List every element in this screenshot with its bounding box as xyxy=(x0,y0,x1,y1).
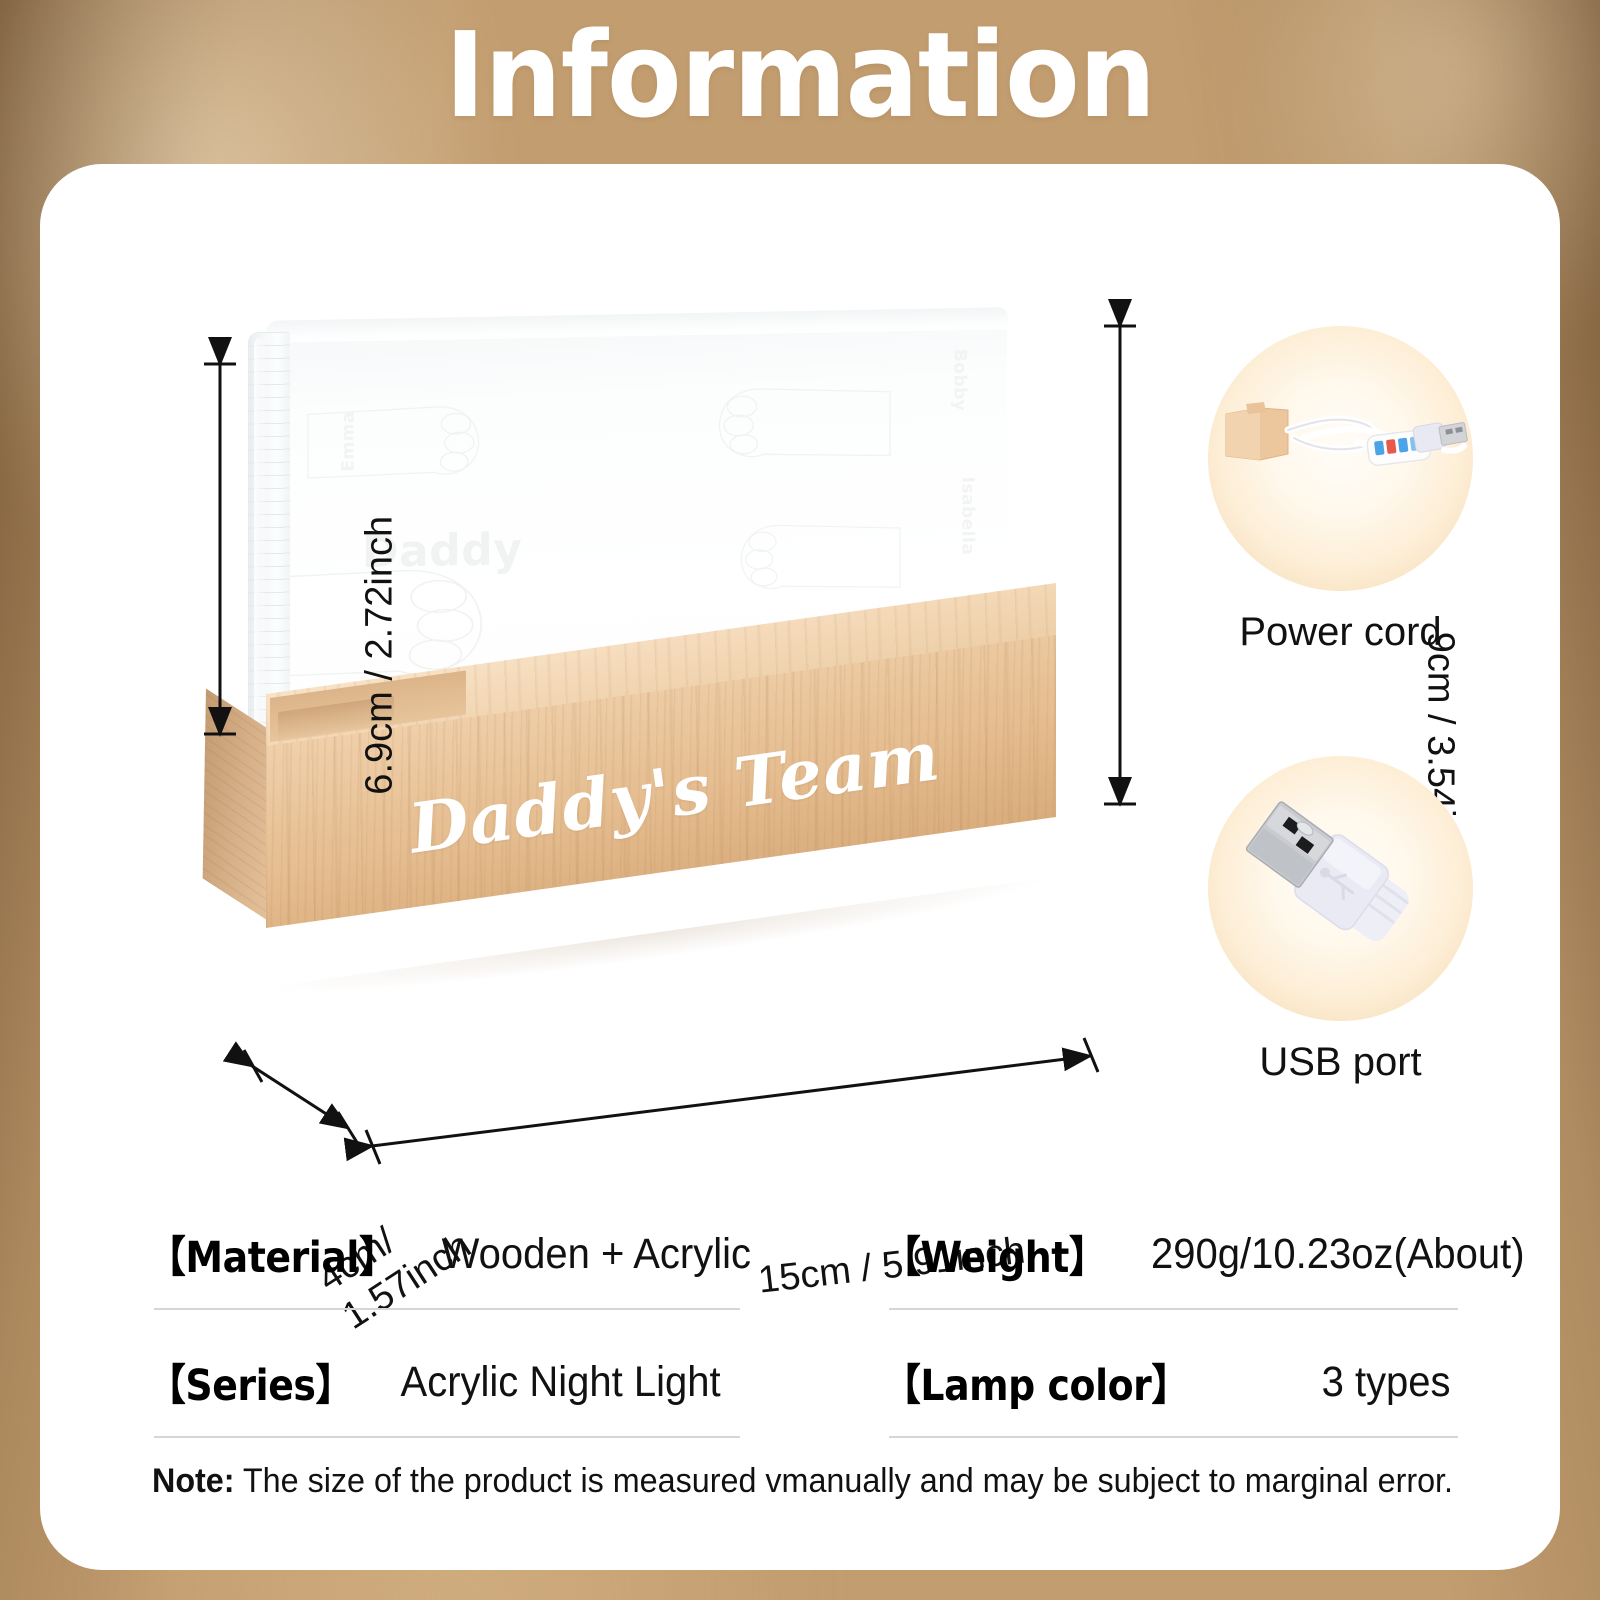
note-text: Note: The size of the product is measure… xyxy=(152,1462,1406,1501)
feature-power-cord-caption: Power cord xyxy=(1168,610,1513,655)
usb-port-icon xyxy=(1208,756,1473,1021)
power-cord-icon xyxy=(1208,326,1473,591)
spec-divider-right xyxy=(889,1308,1458,1310)
feature-usb-port-caption: USB port xyxy=(1168,1040,1513,1085)
feature-usb-port: USB port xyxy=(1208,756,1473,1021)
page-title: Information xyxy=(64,14,1536,138)
spec-key-weight: 【Weight】 xyxy=(883,1223,1106,1285)
spec-key-material: 【Material】 xyxy=(148,1223,396,1285)
spec-divider-left xyxy=(154,1308,740,1310)
note-label: Note: xyxy=(152,1462,235,1500)
product-illustration: Emma Bobby Isabella Amelia Daddy Daddy's… xyxy=(200,304,1100,1094)
spec-divider-left xyxy=(154,1436,740,1438)
spec-key-series: 【Series】 xyxy=(148,1351,353,1413)
spec-cell-weight: 【Weight】 290g/10.23oz(About) xyxy=(883,1204,1458,1304)
spec-divider-right xyxy=(889,1436,1458,1438)
spec-key-lamp-color: 【Lamp color】 xyxy=(883,1351,1189,1413)
feature-power-cord: Power cord xyxy=(1208,326,1473,591)
spec-row: 【Series】 Acrylic Night Light 【Lamp color… xyxy=(148,1332,1458,1460)
spec-table: 【Material】 Wooden + Acrylic 【Weight】 290… xyxy=(148,1204,1458,1460)
spec-value-lamp-color: 3 types xyxy=(1238,1358,1450,1407)
spec-row: 【Material】 Wooden + Acrylic 【Weight】 290… xyxy=(148,1204,1458,1332)
spec-value-material: Wooden + Acrylic xyxy=(442,1230,751,1279)
infographic-root: Information xyxy=(0,0,1600,1600)
spec-cell-material: 【Material】 Wooden + Acrylic xyxy=(148,1204,740,1304)
spec-cell-lamp-color: 【Lamp color】 3 types xyxy=(883,1332,1458,1432)
spec-cell-series: 【Series】 Acrylic Night Light xyxy=(148,1332,740,1432)
spec-value-series: Acrylic Night Light xyxy=(393,1358,727,1407)
content-card: Emma Bobby Isabella Amelia Daddy Daddy's… xyxy=(40,164,1560,1570)
dimension-panel-height: 6.9cm / 2.72inch xyxy=(359,445,402,865)
note-body: The size of the product is measured vman… xyxy=(235,1462,1453,1500)
spec-value-weight: 290g/10.23oz(About) xyxy=(1151,1230,1525,1279)
